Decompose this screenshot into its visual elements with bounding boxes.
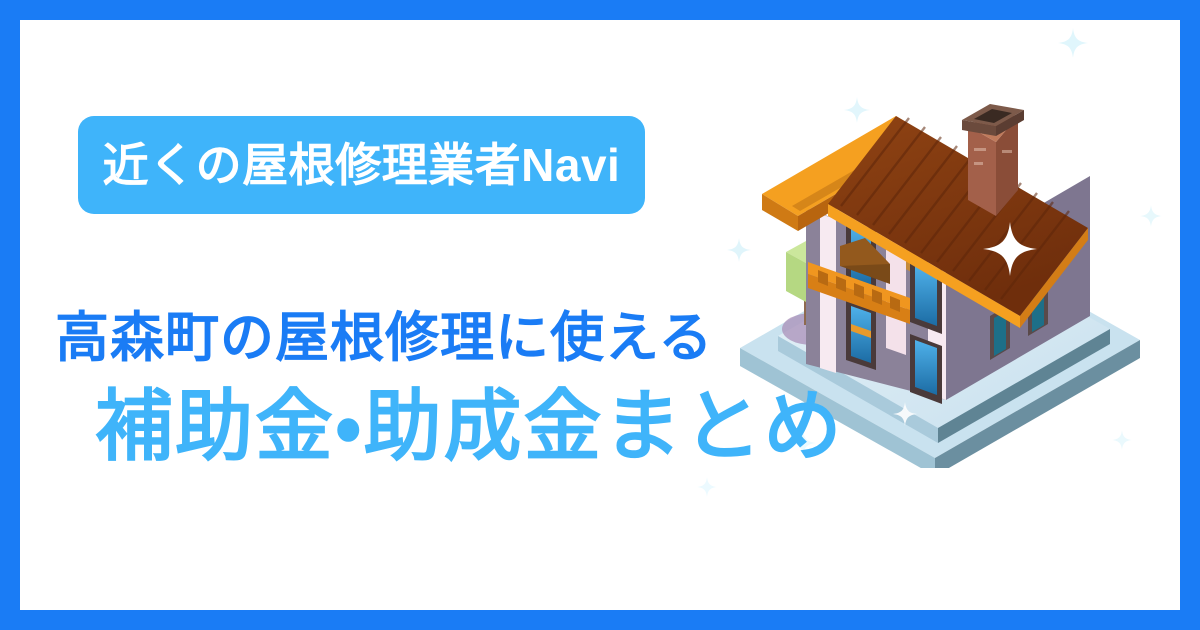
- site-badge-label: 近くの屋根修理業者Navi: [103, 142, 621, 188]
- headline-line-1: 高森町の屋根修理に使える: [55, 308, 844, 368]
- window-front-lower: [846, 300, 876, 370]
- headline-line-2: 補助金・助成金まとめ: [95, 380, 844, 472]
- banner-canvas: 近くの屋根修理業者Navi 高森町の屋根修理に使える 補助金・助成金まとめ: [20, 20, 1180, 610]
- og-banner-card: 近くの屋根修理業者Navi 高森町の屋根修理に使える 補助金・助成金まとめ: [0, 0, 1200, 630]
- headline-block: 高森町の屋根修理に使える 補助金・助成金まとめ: [55, 308, 844, 473]
- window-front-right-lower: [910, 334, 942, 404]
- sparkle-text-lower-icon: [697, 477, 717, 497]
- site-badge[interactable]: 近くの屋根修理業者Navi: [78, 116, 645, 214]
